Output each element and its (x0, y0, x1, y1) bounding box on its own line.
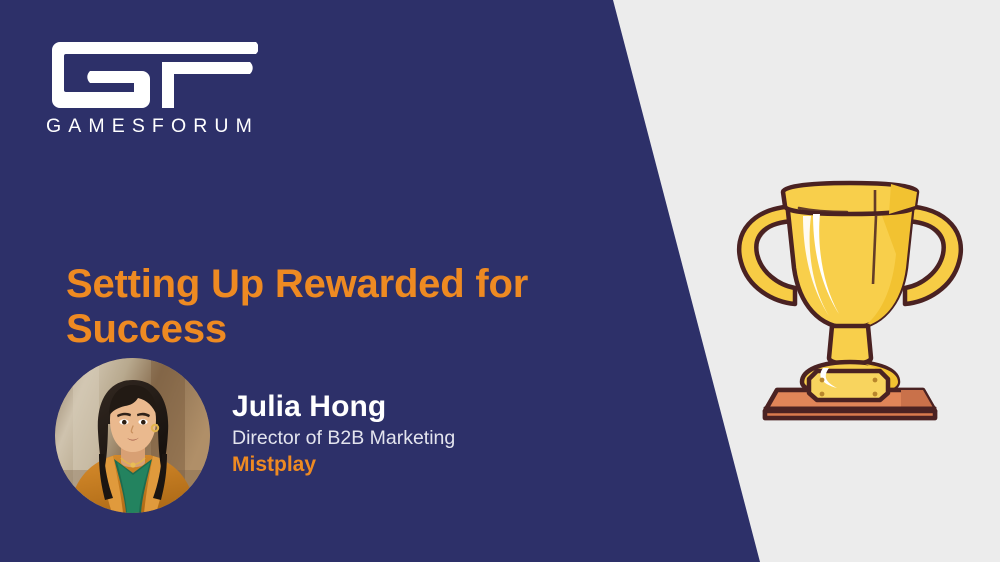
gamesforum-logo: GAMESFORUM (46, 36, 276, 137)
speaker-details: Julia Hong Director of B2B Marketing Mis… (232, 389, 455, 483)
speaker-avatar (55, 358, 210, 513)
trophy-icon (725, 168, 975, 424)
speaker-role: Director of B2B Marketing (232, 426, 455, 451)
speaker-company: Mistplay (232, 452, 455, 478)
speaker-block: Julia Hong Director of B2B Marketing Mis… (55, 358, 455, 513)
gf-monogram-icon (46, 36, 258, 110)
presentation-slide: GAMESFORUM Setting Up Rewarded for Succe… (0, 0, 1000, 562)
gamesforum-wordmark: GAMESFORUM (46, 117, 276, 137)
slide-title: Setting Up Rewarded for Success (66, 262, 686, 352)
speaker-name: Julia Hong (232, 389, 455, 424)
